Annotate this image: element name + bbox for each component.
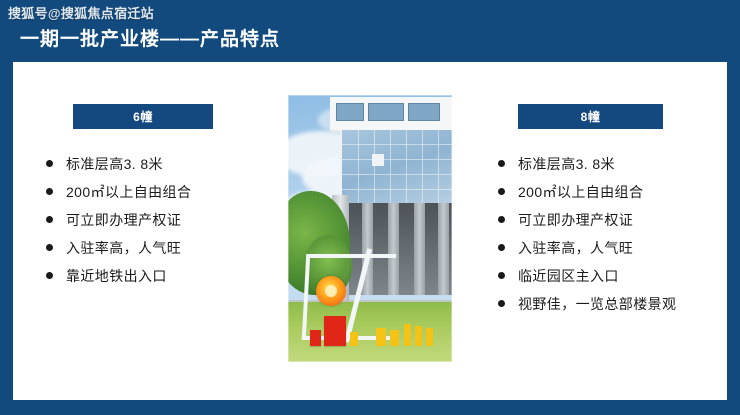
bullet-dot-icon: [498, 188, 505, 195]
photo-sign-emblem: [316, 276, 346, 306]
photo-sign-character: [376, 328, 386, 346]
list-item-label: 靠近地铁出入口: [66, 262, 167, 290]
photo-sign-character: [404, 324, 411, 346]
bullet-dot-icon: [498, 216, 505, 223]
watermark-text: 搜狐号@搜狐焦点宿迁站: [8, 3, 154, 22]
photo-sign-character: [310, 330, 321, 346]
bullet-dot-icon: [498, 244, 505, 251]
column-badge-right: 8幢: [518, 104, 663, 129]
photo-sign-character: [390, 330, 399, 346]
list-item-label: 入驻率高，人气旺: [66, 234, 181, 262]
photo-window: [408, 103, 440, 121]
bullet-dot-icon: [498, 300, 505, 307]
list-item-label: 200㎡以上自由组合: [518, 178, 643, 206]
feature-list-left: 标准层高3. 8米 200㎡以上自由组合 可立即办理产权证 入驻率高，人气旺 靠…: [46, 150, 191, 290]
slide-root: 搜狐号@搜狐焦点宿迁站 一期一批产业楼——产品特点 6幢 标准层高3. 8米 2…: [0, 0, 740, 415]
photo-window-blind: [372, 154, 384, 166]
feature-list-right: 标准层高3. 8米 200㎡以上自由组合 可立即办理产权证 入驻率高，人气旺 临…: [498, 150, 676, 318]
photo-window: [368, 103, 404, 121]
list-item-label: 入驻率高，人气旺: [518, 234, 633, 262]
list-item: 临近园区主入口: [498, 262, 676, 290]
bullet-dot-icon: [46, 160, 53, 167]
list-item: 200㎡以上自由组合: [498, 178, 676, 206]
column-badge-left: 6幢: [73, 104, 213, 129]
list-item-label: 视野佳，一览总部楼景观: [518, 290, 676, 318]
photo-building-parapet: [330, 97, 452, 133]
list-item: 靠近地铁出入口: [46, 262, 191, 290]
building-photo: [288, 95, 452, 362]
list-item: 200㎡以上自由组合: [46, 178, 191, 206]
content-card: 6幢 标准层高3. 8米 200㎡以上自由组合 可立即办理产权证 入驻率高，人气…: [13, 62, 727, 400]
list-item: 标准层高3. 8米: [46, 150, 191, 178]
bullet-dot-icon: [498, 272, 505, 279]
bullet-dot-icon: [46, 272, 53, 279]
list-item-label: 标准层高3. 8米: [518, 150, 615, 178]
bullet-dot-icon: [46, 216, 53, 223]
list-item: 可立即办理产权证: [46, 206, 191, 234]
photo-glass-curtain-wall: [340, 130, 452, 203]
photo-sign-character: [426, 328, 433, 346]
list-item-label: 可立即办理产权证: [66, 206, 181, 234]
page-title: 一期一批产业楼——产品特点: [20, 24, 280, 51]
bullet-dot-icon: [498, 160, 505, 167]
list-item: 入驻率高，人气旺: [46, 234, 191, 262]
bullet-dot-icon: [46, 188, 53, 195]
photo-sign-character: [350, 332, 358, 346]
photo-sign-character: [415, 326, 422, 346]
photo-sign-character: [324, 316, 346, 346]
list-item-label: 临近园区主入口: [518, 262, 619, 290]
list-item: 视野佳，一览总部楼景观: [498, 290, 676, 318]
list-item-label: 标准层高3. 8米: [66, 150, 163, 178]
list-item-label: 可立即办理产权证: [518, 206, 633, 234]
list-item: 可立即办理产权证: [498, 206, 676, 234]
list-item-label: 200㎡以上自由组合: [66, 178, 191, 206]
list-item: 入驻率高，人气旺: [498, 234, 676, 262]
list-item: 标准层高3. 8米: [498, 150, 676, 178]
photo-window: [336, 103, 364, 121]
bullet-dot-icon: [46, 244, 53, 251]
